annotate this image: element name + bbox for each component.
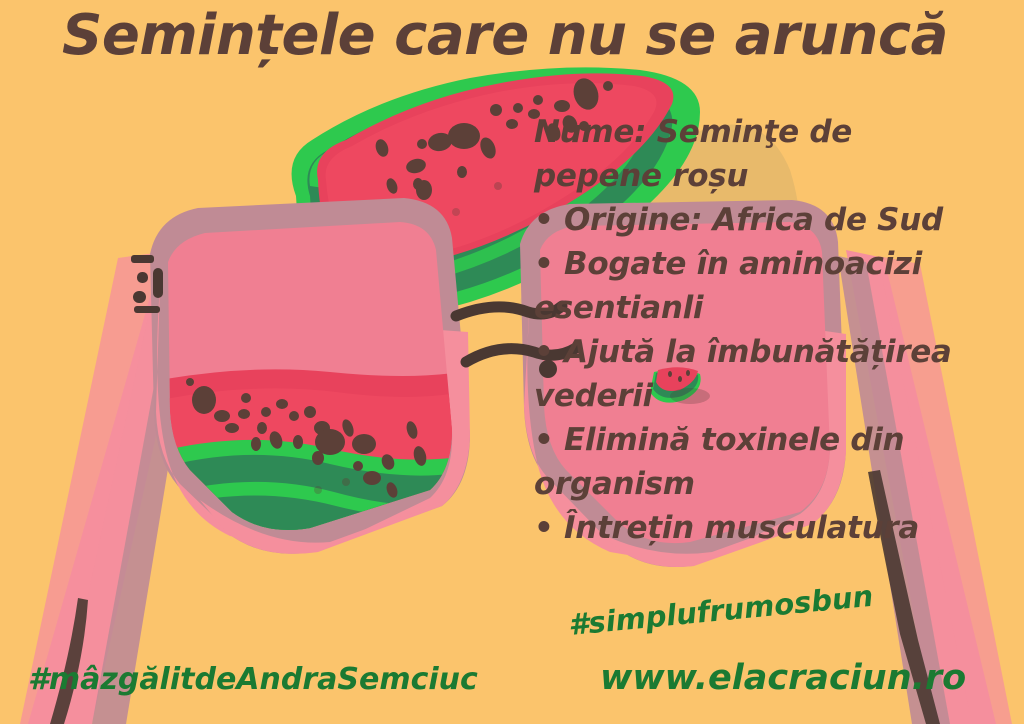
- credit-hashtag: #mâzgălitdeAndraSemciuc: [28, 662, 478, 697]
- list-item: esentianli: [534, 286, 1024, 330]
- list-item: organism: [534, 462, 1024, 506]
- website-url: www.elacraciun.ro: [600, 658, 966, 698]
- list-item: • Ajută la îmbunătățirea: [534, 330, 1024, 374]
- page-title: Semințele care nu se aruncă: [62, 8, 962, 64]
- list-item: Nume: Seminţe de: [534, 110, 1024, 154]
- list-item: • Elimină toxinele din: [534, 418, 1024, 462]
- facts-list: Nume: Seminţe de pepene roșu • Origine: …: [534, 110, 1024, 550]
- list-item: • Origine: Africa de Sud: [534, 198, 1024, 242]
- poster-canvas: Semințele care nu se aruncă Nume: Seminţ…: [0, 0, 1024, 724]
- sunglasses-left-lens: [131, 198, 470, 554]
- list-item: vederii: [534, 374, 1024, 418]
- list-item: • Întrețin musculatura: [534, 506, 1024, 550]
- list-item: • Bogate în aminoacizi: [534, 242, 1024, 286]
- list-item: pepene roșu: [534, 154, 1024, 198]
